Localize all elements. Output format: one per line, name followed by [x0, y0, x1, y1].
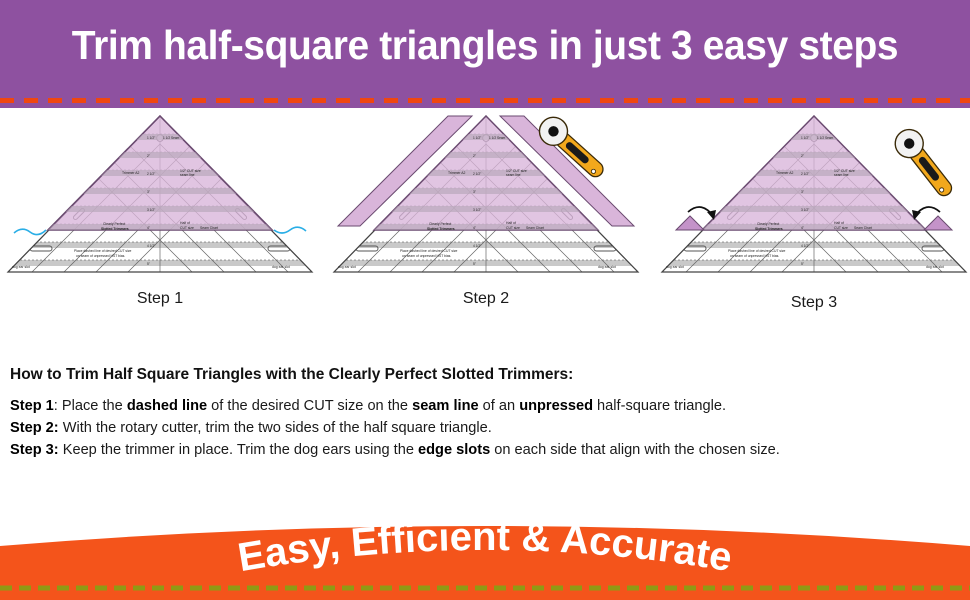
svg-text:Place dashed line of desired C: Place dashed line of desired CUT size [728, 249, 786, 253]
svg-text:Half of: Half of [180, 221, 190, 225]
svg-text:dog ear slot: dog ear slot [598, 265, 616, 269]
svg-text:Slotted Trimmers: Slotted Trimmers [101, 227, 129, 231]
svg-text:seam line: seam line [834, 173, 849, 177]
svg-text:3": 3" [801, 190, 804, 194]
svg-text:Slotted Trimmers: Slotted Trimmers [755, 227, 783, 231]
svg-text:1 1/2": 1 1/2" [147, 136, 155, 140]
svg-text:Half of: Half of [834, 221, 844, 225]
svg-text:3 1/2": 3 1/2" [147, 208, 155, 212]
svg-text:Slotted Trimmers: Slotted Trimmers [427, 227, 455, 231]
step-label-3: Step 3 [658, 294, 970, 312]
svg-text:1 1/2 Seam: 1 1/2 Seam [817, 136, 834, 140]
svg-text:CUT size: CUT size [834, 226, 848, 230]
svg-text:dog ear slot: dog ear slot [666, 265, 684, 269]
svg-text:on seam of unpressed HST bias.: on seam of unpressed HST bias. [730, 254, 779, 258]
svg-text:Place dashed line of desired C: Place dashed line of desired CUT size [74, 249, 132, 253]
svg-text:2": 2" [473, 154, 476, 158]
instruction-line-2: Step 2: With the rotary cutter, trim the… [10, 417, 960, 439]
svg-text:CUT size: CUT size [180, 226, 194, 230]
svg-text:seam line: seam line [506, 173, 521, 177]
svg-text:3 1/2": 3 1/2" [801, 208, 809, 212]
step-figure-2: 1 1/2"2" 2 1/2"3" 3 1/2"4" 4 1/2"5" 1 1/… [330, 112, 642, 308]
step-figures: 1 1/2"2" 2 1/2"3" 3 1/2"4" 4 1/2"5" 1 1/… [0, 112, 970, 337]
svg-text:5": 5" [147, 262, 150, 266]
ruler-diagram-step-3: 1 1/2"2" 2 1/2"3" 3 1/2"4" 4 1/2"5" 1 1/… [658, 112, 970, 292]
svg-text:dog ear slot: dog ear slot [926, 265, 944, 269]
svg-text:dog ear slot: dog ear slot [12, 265, 30, 269]
instruction-step-label: Step 2: [10, 420, 59, 436]
svg-text:1 1/2 Seam: 1 1/2 Seam [489, 136, 506, 140]
svg-text:4": 4" [147, 226, 150, 230]
instruction-line-3: Step 3: Keep the trimmer in place. Trim … [10, 439, 960, 461]
svg-text:Trimmer A2: Trimmer A2 [776, 171, 794, 175]
step-label-1: Step 1 [4, 290, 316, 308]
svg-text:2 1/2": 2 1/2" [147, 172, 155, 176]
svg-text:Seam Chart: Seam Chart [200, 226, 218, 230]
page-title: Trim half-square triangles in just 3 eas… [24, 22, 946, 69]
svg-text:4 1/2": 4 1/2" [473, 244, 481, 248]
svg-text:dog ear slot: dog ear slot [272, 265, 290, 269]
instruction-step-label: Step 3: [10, 442, 59, 458]
ruler-diagram-step-1: 1 1/2"2" 2 1/2"3" 3 1/2"4" 4 1/2"5" 1 1/… [4, 112, 316, 292]
fabric-half-square-triangle [4, 116, 316, 230]
svg-text:seam line: seam line [180, 173, 195, 177]
svg-text:on seam of unpressed HST bias.: on seam of unpressed HST bias. [76, 254, 125, 258]
svg-text:4": 4" [473, 226, 476, 230]
instruction-line-1: Step 1: Place the dashed line of the des… [10, 395, 960, 417]
svg-text:CUT size: CUT size [506, 226, 520, 230]
header-dashed-rule [0, 98, 970, 103]
svg-text:5": 5" [473, 262, 476, 266]
svg-text:3": 3" [473, 190, 476, 194]
svg-text:4 1/2": 4 1/2" [147, 244, 155, 248]
svg-text:2 1/2": 2 1/2" [801, 172, 809, 176]
svg-text:on seam of unpressed HST bias.: on seam of unpressed HST bias. [402, 254, 451, 258]
svg-text:Clearly Perfect: Clearly Perfect [757, 222, 779, 226]
svg-text:4": 4" [801, 226, 804, 230]
svg-text:3": 3" [147, 190, 150, 194]
step-label-2: Step 2 [330, 290, 642, 308]
svg-text:2": 2" [147, 154, 150, 158]
svg-text:dog ear slot: dog ear slot [338, 265, 356, 269]
svg-text:3 1/2": 3 1/2" [473, 208, 481, 212]
svg-text:1 1/2": 1 1/2" [473, 136, 481, 140]
svg-text:Seam Chart: Seam Chart [854, 226, 872, 230]
svg-text:Clearly Perfect: Clearly Perfect [429, 222, 451, 226]
step-figure-1: 1 1/2"2" 2 1/2"3" 3 1/2"4" 4 1/2"5" 1 1/… [4, 112, 316, 308]
infographic-page: Trim half-square triangles in just 3 eas… [0, 0, 970, 600]
svg-text:2 1/2": 2 1/2" [473, 172, 481, 176]
instruction-step-label: Step 1 [10, 398, 54, 414]
rotary-cutter-icon [890, 124, 960, 203]
ruler-diagram-step-2: 1 1/2"2" 2 1/2"3" 3 1/2"4" 4 1/2"5" 1 1/… [330, 112, 642, 292]
svg-text:1 1/2 Seam: 1 1/2 Seam [163, 136, 180, 140]
instructions-heading: How to Trim Half Square Triangles with t… [10, 366, 960, 384]
svg-text:1 1/2": 1 1/2" [801, 136, 809, 140]
instructions-block: How to Trim Half Square Triangles with t… [10, 366, 960, 461]
svg-text:Seam Chart: Seam Chart [526, 226, 544, 230]
svg-text:2": 2" [801, 154, 804, 158]
footer-banner: Easy, Efficient & Accurate [0, 500, 970, 600]
header-banner: Trim half-square triangles in just 3 eas… [0, 0, 970, 108]
svg-text:4 1/2": 4 1/2" [801, 244, 809, 248]
svg-text:Trimmer A2: Trimmer A2 [122, 171, 140, 175]
svg-text:Clearly Perfect: Clearly Perfect [103, 222, 125, 226]
svg-text:Trimmer A2: Trimmer A2 [448, 171, 466, 175]
step-figure-3: 1 1/2"2" 2 1/2"3" 3 1/2"4" 4 1/2"5" 1 1/… [658, 112, 970, 312]
svg-text:5": 5" [801, 262, 804, 266]
svg-text:Place dashed line of desired C: Place dashed line of desired CUT size [400, 249, 458, 253]
svg-text:Half of: Half of [506, 221, 516, 225]
